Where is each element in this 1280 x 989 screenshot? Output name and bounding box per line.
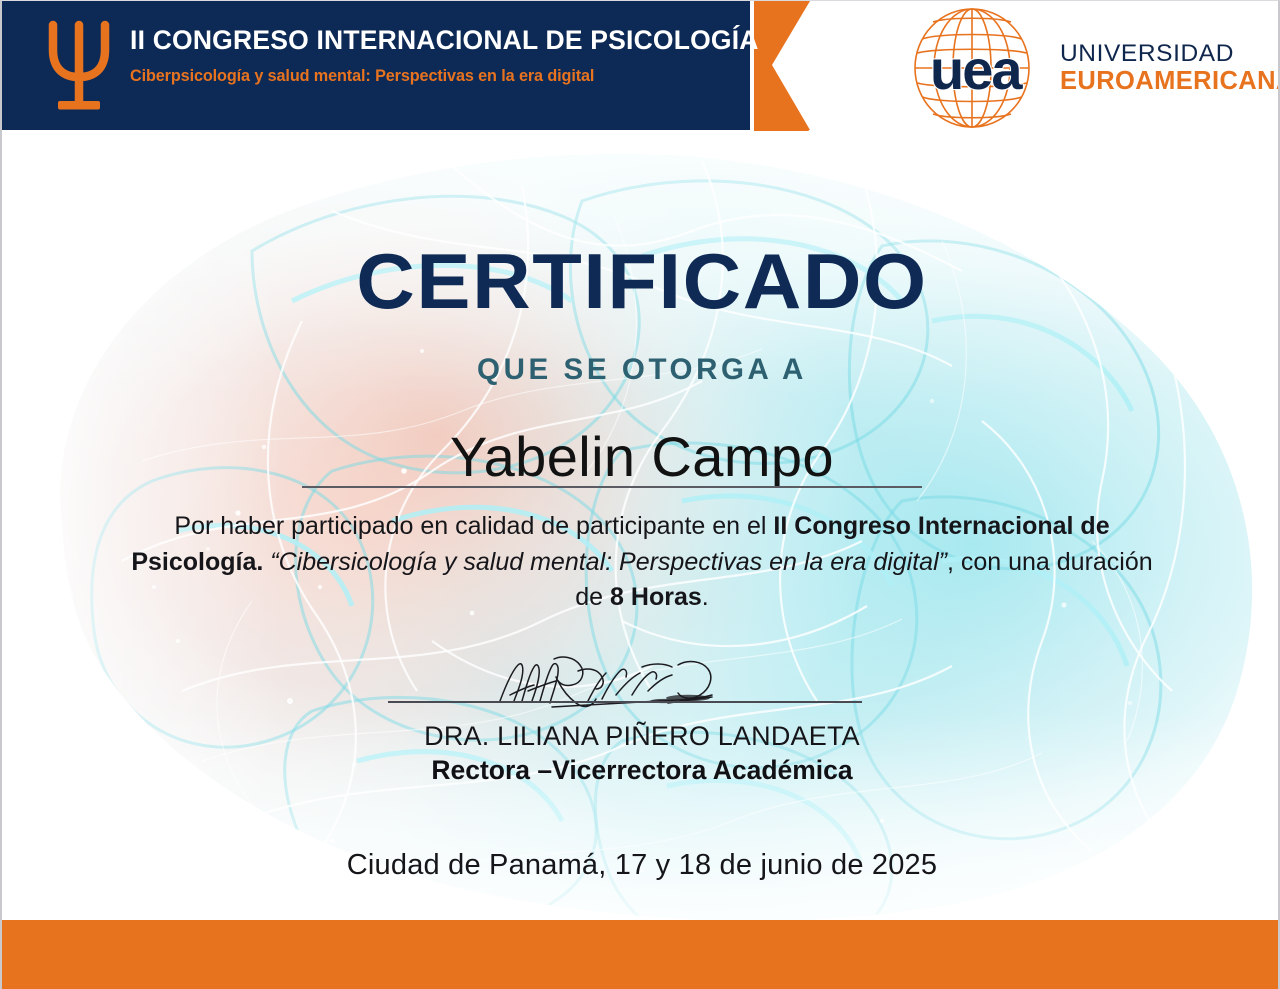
handwritten-signature-icon bbox=[492, 651, 742, 713]
header-orange-chevron bbox=[754, 1, 864, 131]
place-and-date: Ciudad de Panamá, 17 y 18 de junio de 20… bbox=[2, 849, 1280, 882]
body-segment-1: Por haber participado en calidad de part… bbox=[174, 512, 712, 540]
congress-title: II CONGRESO INTERNACIONAL DE PSICOLOGÍA bbox=[130, 26, 740, 55]
certificate-body-text: Por haber participado en calidad de part… bbox=[130, 509, 1154, 616]
certificate-body: CERTIFICADO QUE SE OTORGA A Yabelin Camp… bbox=[2, 131, 1280, 921]
uea-wordmark: UNIVERSIDAD EUROAMERICANA bbox=[1060, 40, 1280, 96]
page-title: CERTIFICADO bbox=[0, 236, 1280, 327]
signer-role: Rectora –Vicerrectora Académica bbox=[2, 755, 1280, 786]
body-segment-7: . bbox=[702, 583, 709, 611]
globe-icon: uea bbox=[892, 7, 1052, 129]
awarded-to-label: QUE SE OTORGA A bbox=[2, 353, 1280, 387]
svg-text:uea: uea bbox=[930, 38, 1023, 101]
certificate-page: II CONGRESO INTERNACIONAL DE PSICOLOGÍA … bbox=[0, 0, 1280, 989]
body-segment-4: “Cibersicología y salud mental: Perspect… bbox=[263, 548, 947, 576]
congress-subtitle: Ciberpsicología y salud mental: Perspect… bbox=[130, 67, 740, 86]
signer-name: DRA. LILIANA PIÑERO LANDAETA bbox=[2, 721, 1280, 752]
psi-icon bbox=[42, 17, 116, 113]
header-text-group: II CONGRESO INTERNACIONAL DE PSICOLOGÍA … bbox=[130, 26, 740, 86]
signature-rule bbox=[388, 701, 862, 703]
uea-euroamericana-label: EUROAMERICANA bbox=[1060, 67, 1280, 96]
body-segment-2: en el bbox=[712, 512, 773, 540]
uea-universidad-label: UNIVERSIDAD bbox=[1060, 40, 1280, 67]
uea-logo: uea UNIVERSIDAD EUROAMERICANA bbox=[892, 7, 1272, 129]
recipient-name: Yabelin Campo bbox=[2, 424, 1280, 489]
recipient-name-rule bbox=[302, 486, 922, 488]
footer-orange-bar bbox=[2, 920, 1280, 989]
body-segment-6: 8 Horas bbox=[610, 583, 702, 611]
